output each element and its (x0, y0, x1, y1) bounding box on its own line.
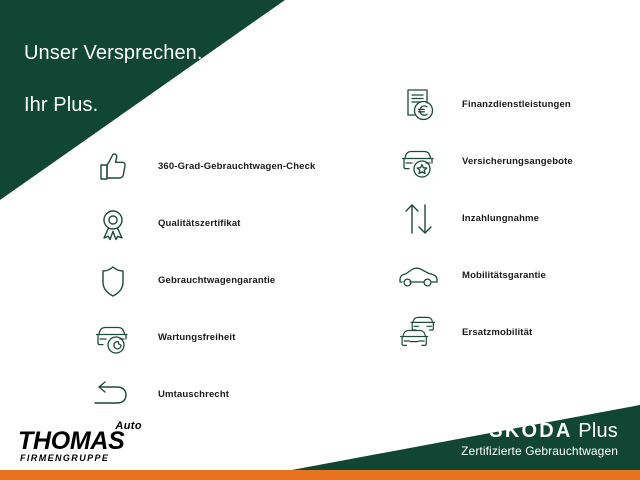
skoda-tagline: Zertifizierte Gebrauchtwagen (461, 443, 618, 459)
dealer-logo-name: THOMAS (18, 428, 125, 454)
dealer-logo: Auto THOMAS FIRMENGRUPPE (18, 420, 148, 466)
benefit-item: 360-Grad-Gebrauchtwagen-Check (86, 138, 346, 195)
headline-line-1: Unser Versprechen. (24, 40, 203, 66)
benefit-label: Mobilitätsgarantie (446, 270, 546, 282)
car-wrench-icon (86, 314, 140, 362)
benefit-label: Gebrauchtwagengarantie (140, 275, 275, 287)
thumbs-up-icon (86, 143, 140, 191)
benefits-column-right: Finanzdienstleistungen Versicherungsange… (392, 76, 632, 361)
benefit-label: Finanzdienstleistungen (446, 99, 571, 111)
benefit-item: Versicherungsangebote (392, 133, 632, 190)
benefit-label: Ersatzmobilität (446, 327, 532, 339)
skoda-wordmark: ŠKODA (489, 420, 572, 442)
benefit-item: Gebrauchtwagengarantie (86, 252, 346, 309)
benefit-label: 360-Grad-Gebrauchtwagen-Check (140, 161, 315, 173)
return-arrow-icon (86, 371, 140, 419)
benefit-label: Qualitätszertifikat (140, 218, 241, 230)
benefits-column-left: 360-Grad-Gebrauchtwagen-Check Qualitätsz… (86, 138, 346, 423)
benefit-item: Inzahlungnahme (392, 190, 632, 247)
orange-accent-bar (0, 470, 640, 480)
award-rosette-icon (86, 200, 140, 248)
car-side-icon (392, 252, 446, 300)
benefit-item: Ersatzmobilität (392, 304, 632, 361)
headline-line-2: Ihr Plus. (24, 92, 203, 118)
skoda-plus-word: Plus (573, 420, 618, 442)
benefit-item: Wartungsfreiheit (86, 309, 346, 366)
up-down-arrows-icon (392, 195, 446, 243)
benefit-label: Versicherungsangebote (446, 156, 573, 168)
benefit-item: Qualitätszertifikat (86, 195, 346, 252)
benefit-item: Mobilitätsgarantie (392, 247, 632, 304)
skoda-plus-lockup: ŠKODA Plus Zertifizierte Gebrauchtwagen (461, 420, 618, 459)
benefit-label: Wartungsfreiheit (140, 332, 236, 344)
benefit-label: Umtauschrecht (140, 389, 229, 401)
page-title: Unser Versprechen. Ihr Plus. (24, 14, 203, 144)
benefit-item: Umtauschrecht (86, 366, 346, 423)
dealer-logo-subtitle: FIRMENGRUPPE (20, 453, 109, 463)
document-euro-icon (392, 81, 446, 129)
car-star-icon (392, 138, 446, 186)
two-cars-icon (392, 309, 446, 357)
skoda-brand-line: ŠKODA Plus (461, 420, 618, 443)
shield-icon (86, 257, 140, 305)
benefit-label: Inzahlungnahme (446, 213, 539, 225)
promo-banner: Unser Versprechen. Ihr Plus. 360-Grad-Ge… (0, 0, 640, 480)
benefit-item: Finanzdienstleistungen (392, 76, 632, 133)
